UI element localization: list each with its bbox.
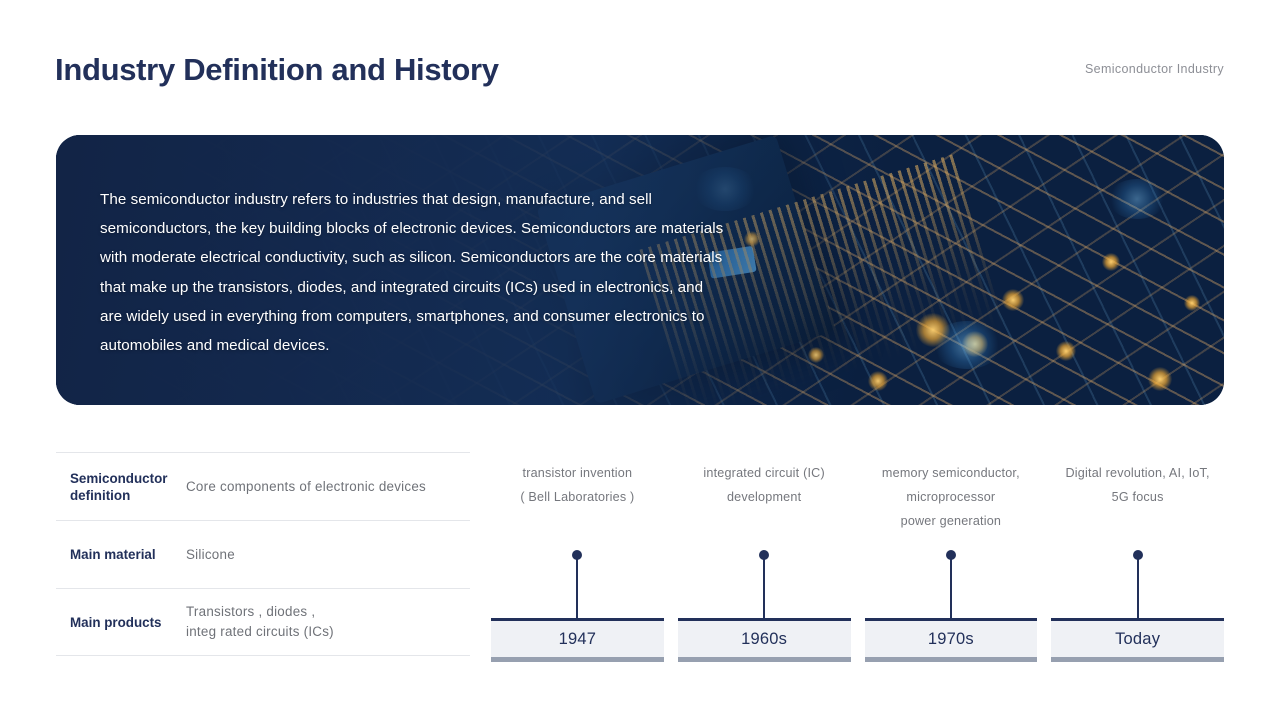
table-row-key: Main material	[56, 546, 186, 563]
timeline-item-1947[interactable]: transistor invention ( Bell Laboratories…	[491, 452, 664, 662]
timeline-year-chip[interactable]: Today	[1051, 618, 1224, 662]
timeline-caption: integrated circuit (IC) development	[678, 461, 851, 509]
hero-body-text: The semiconductor industry refers to ind…	[100, 185, 725, 360]
timeline-caption: memory semiconductor, microprocessor pow…	[865, 461, 1038, 533]
timeline-item-1970s[interactable]: memory semiconductor, microprocessor pow…	[865, 452, 1038, 662]
history-timeline: transistor invention ( Bell Laboratories…	[491, 452, 1224, 662]
table-row: Main products Transistors , diodes , int…	[56, 588, 470, 656]
page-title: Industry Definition and History	[55, 52, 499, 88]
timeline-stem	[950, 555, 952, 620]
timeline-year-chip[interactable]: 1960s	[678, 618, 851, 662]
definition-table: Semiconductor definition Core components…	[56, 452, 470, 656]
table-row-value: Core components of electronic devices	[186, 477, 470, 497]
timeline-caption: Digital revolution, AI, IoT, 5G focus	[1051, 461, 1224, 509]
timeline-stem	[576, 555, 578, 620]
timeline-year-label: 1947	[491, 621, 664, 657]
timeline-year-chip[interactable]: 1970s	[865, 618, 1038, 662]
table-row-value: Transistors , diodes , integ rated circu…	[186, 602, 470, 642]
timeline-year-chip[interactable]: 1947	[491, 618, 664, 662]
timeline-item-1960s[interactable]: integrated circuit (IC) development 1960…	[678, 452, 851, 662]
timeline-year-label: Today	[1051, 621, 1224, 657]
timeline-caption: transistor invention ( Bell Laboratories…	[491, 461, 664, 509]
table-row: Semiconductor definition Core components…	[56, 452, 470, 520]
timeline-stem	[763, 555, 765, 620]
table-row: Main material Silicone	[56, 520, 470, 588]
slide-root: Industry Definition and History Semicond…	[0, 0, 1280, 720]
table-row-value: Silicone	[186, 545, 470, 565]
slide-kicker-label: Semiconductor Industry	[1085, 62, 1224, 76]
table-row-key: Semiconductor definition	[56, 470, 186, 504]
timeline-year-label: 1960s	[678, 621, 851, 657]
hero-banner: The semiconductor industry refers to ind…	[56, 135, 1224, 405]
timeline-item-today[interactable]: Digital revolution, AI, IoT, 5G focus To…	[1051, 452, 1224, 662]
timeline-year-label: 1970s	[865, 621, 1038, 657]
timeline-stem	[1137, 555, 1139, 620]
table-row-key: Main products	[56, 614, 186, 631]
